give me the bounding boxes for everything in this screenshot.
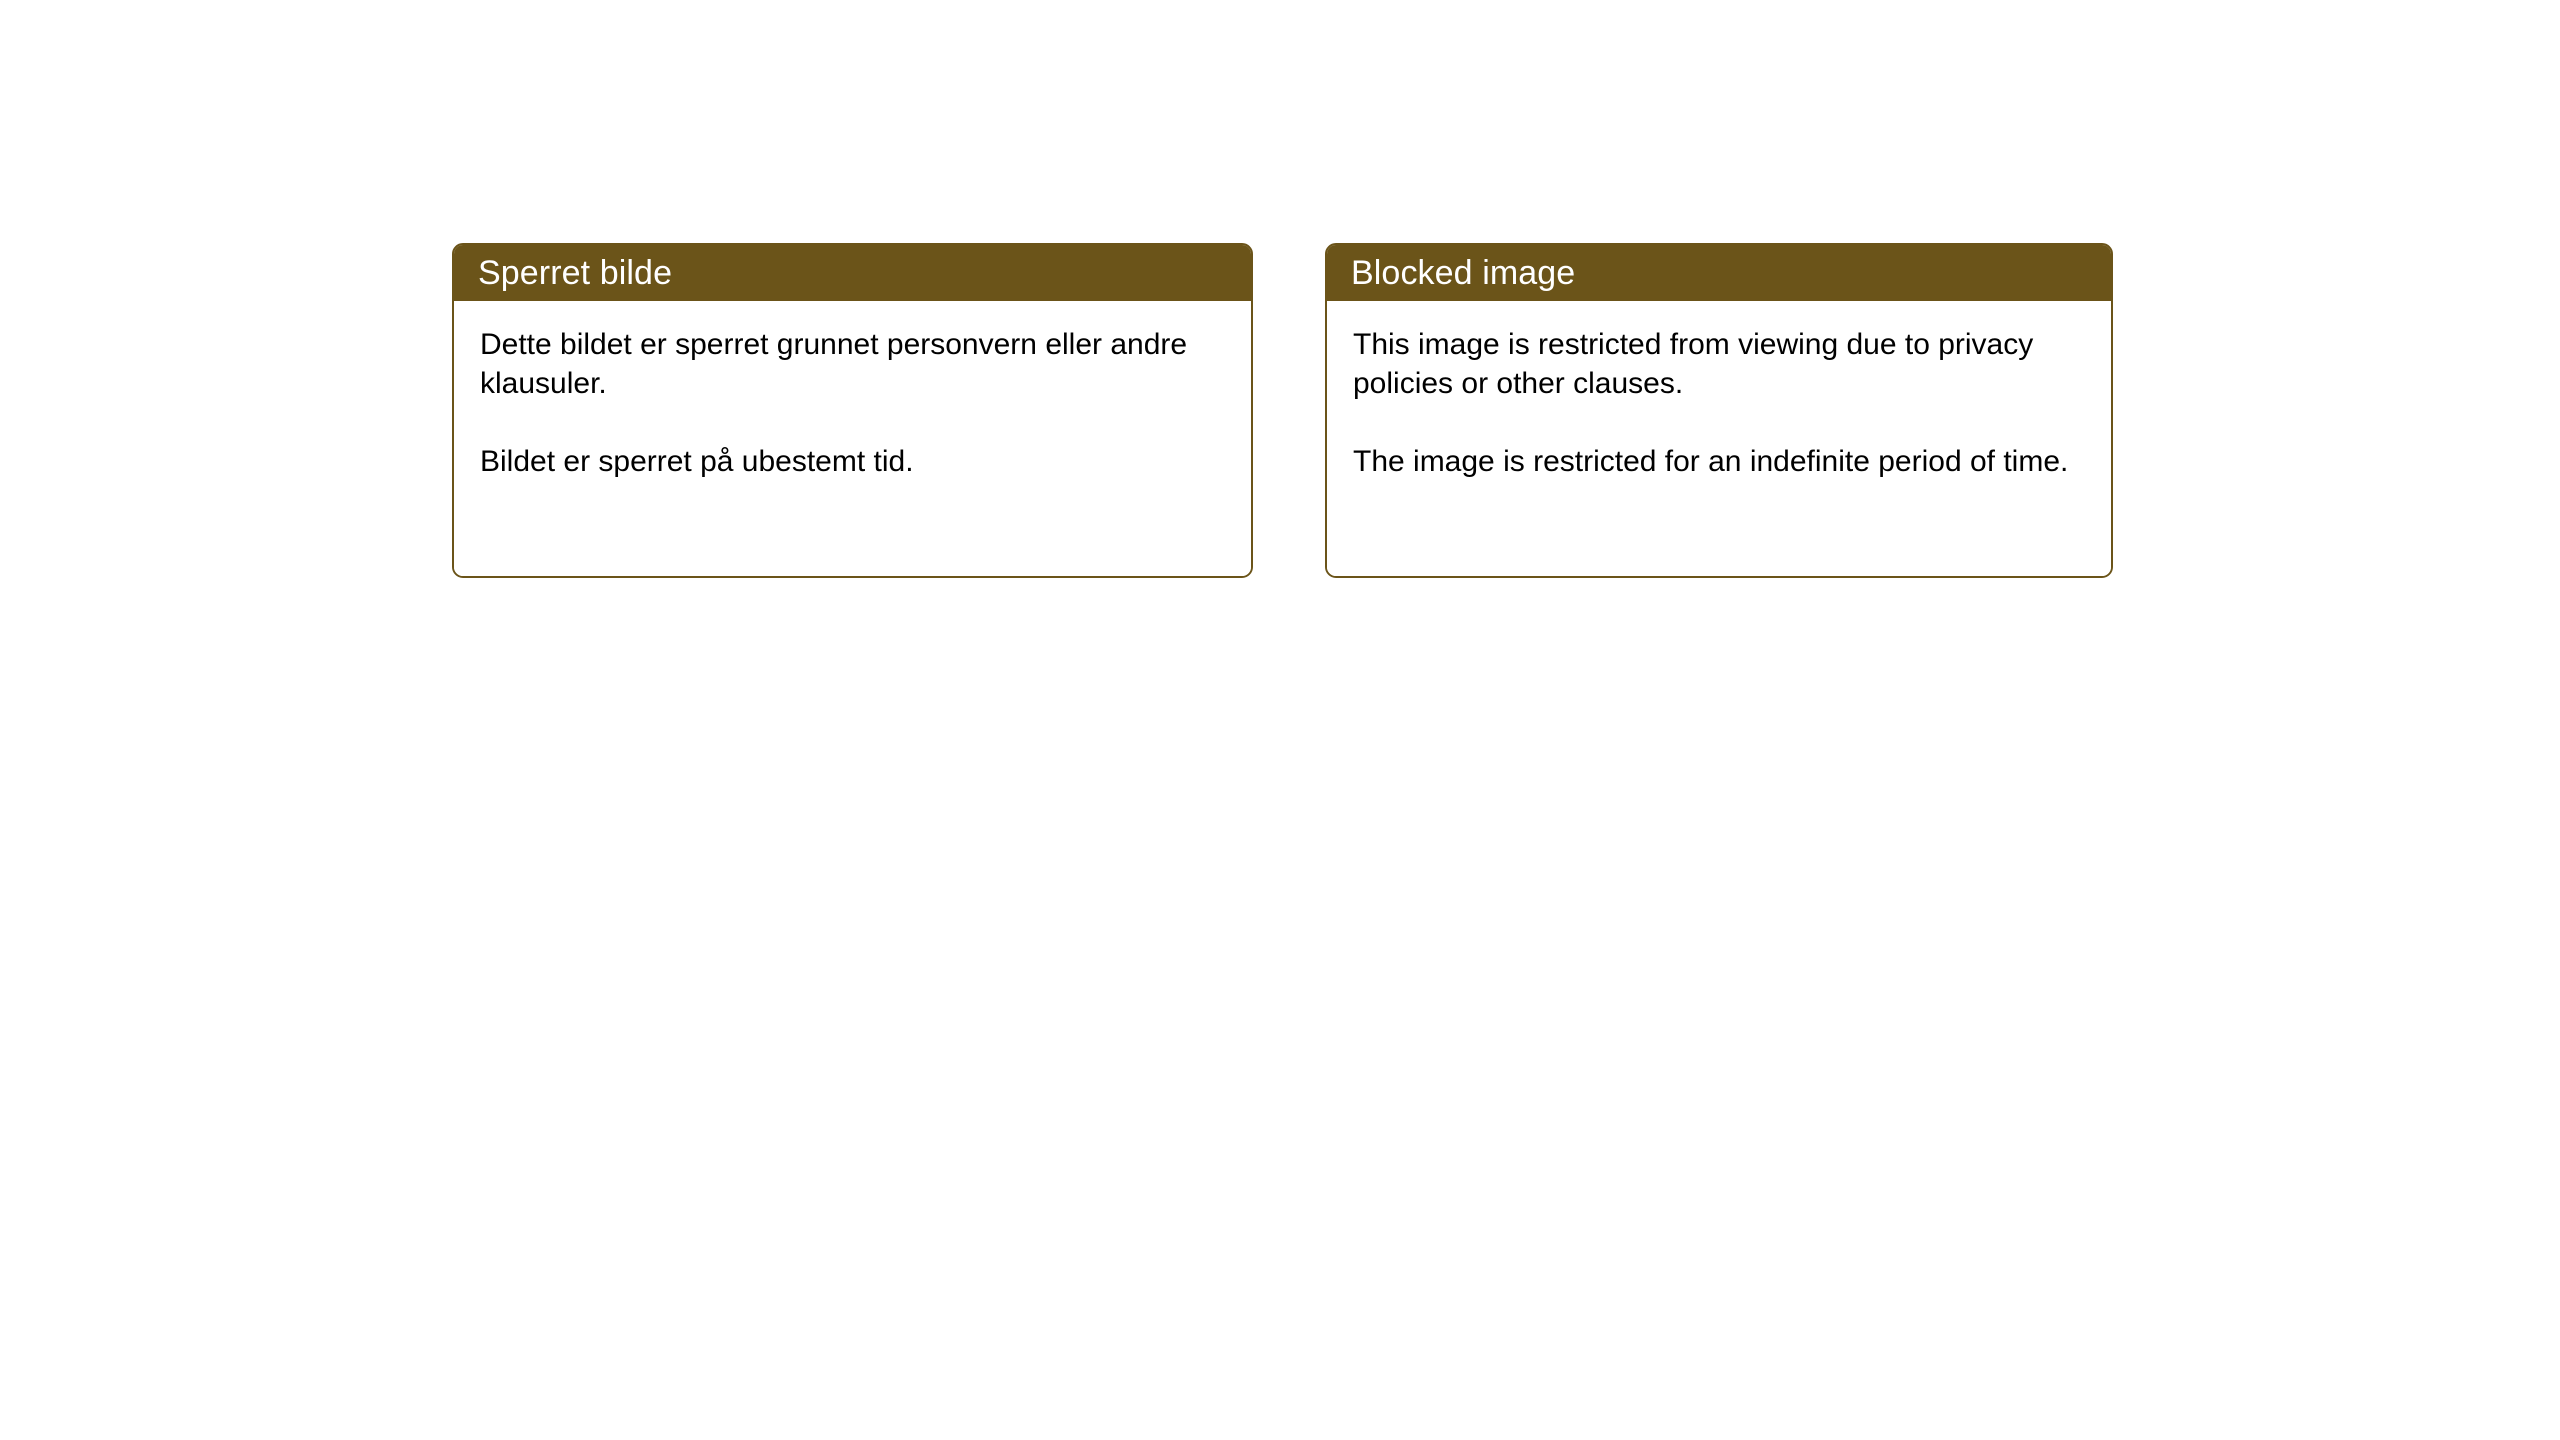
card-title-norwegian: Sperret bilde: [478, 256, 672, 290]
card-header-norwegian: Sperret bilde: [454, 245, 1251, 301]
card-header-english: Blocked image: [1327, 245, 2111, 301]
blocked-image-card-norwegian: Sperret bilde Dette bildet er sperret gr…: [452, 243, 1253, 578]
paragraph-spacer: [1353, 403, 2085, 442]
card-title-english: Blocked image: [1351, 256, 1575, 290]
card-paragraph-secondary-english: The image is restricted for an indefinit…: [1353, 442, 2085, 481]
card-paragraph-secondary-norwegian: Bildet er sperret på ubestemt tid.: [480, 442, 1225, 481]
blocked-image-card-english: Blocked image This image is restricted f…: [1325, 243, 2113, 578]
card-body-english: This image is restricted from viewing du…: [1327, 301, 2111, 576]
paragraph-spacer: [480, 403, 1225, 442]
card-paragraph-primary-english: This image is restricted from viewing du…: [1353, 325, 2085, 403]
card-paragraph-primary-norwegian: Dette bildet er sperret grunnet personve…: [480, 325, 1225, 403]
blocked-image-notice-area: Sperret bilde Dette bildet er sperret gr…: [452, 243, 2113, 578]
card-body-norwegian: Dette bildet er sperret grunnet personve…: [454, 301, 1251, 576]
